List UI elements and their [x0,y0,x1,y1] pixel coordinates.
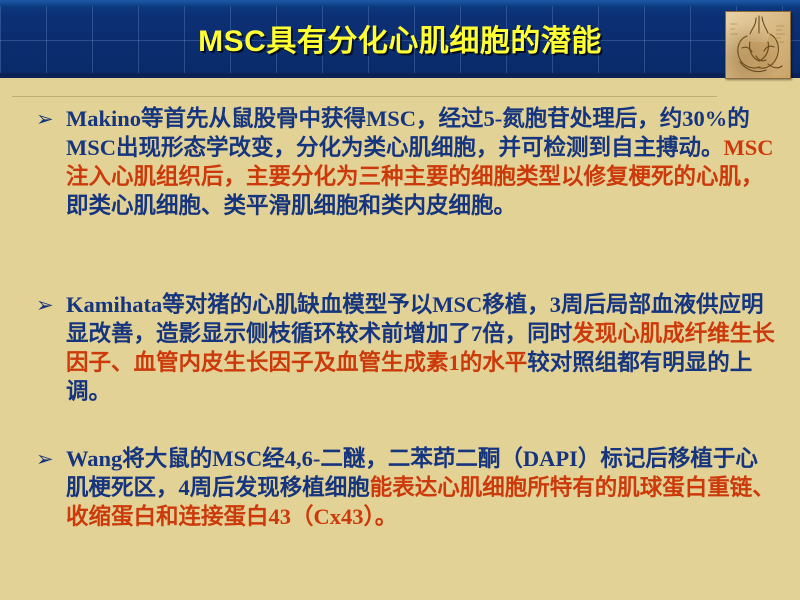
list-item: ➢ Wang将大鼠的MSC经4,6-二醚，二苯茚二酮（DAPI）标记后移植于心肌… [36,444,776,531]
text-segment: Makino等首先从鼠股骨中获得MSC，经过5-氮胞苷处理后，约30%的MSC出… [66,106,750,160]
bullet-text: Makino等首先从鼠股骨中获得MSC，经过5-氮胞苷处理后，约30%的MSC出… [66,104,776,220]
slide-canvas: MSC具有分化心肌细胞的潜能 [0,0,800,600]
list-item: ➢ Kamihata等对猪的心肌缺血模型予以MSC移植，3周后局部血液供应明显改… [36,290,776,406]
bullet-arrow-icon: ➢ [36,445,62,474]
page-title: MSC具有分化心肌细胞的潜能 [0,16,800,60]
text-segment: 即类心肌细胞、类平滑肌细胞和类内皮细胞。 [66,193,516,218]
header-divider-rule [12,96,717,97]
anatomical-heart-illustration [725,11,791,79]
bullet-arrow-icon: ➢ [36,291,62,320]
slide-body: ➢ Makino等首先从鼠股骨中获得MSC，经过5-氮胞苷处理后，约30%的MS… [0,98,800,600]
bullet-text: Wang将大鼠的MSC经4,6-二醚，二苯茚二酮（DAPI）标记后移植于心肌梗死… [66,444,776,531]
slide-header-banner: MSC具有分化心肌细胞的潜能 [0,0,800,78]
list-item: ➢ Makino等首先从鼠股骨中获得MSC，经过5-氮胞苷处理后，约30%的MS… [36,104,776,220]
bullet-arrow-icon: ➢ [36,105,62,134]
bullet-text: Kamihata等对猪的心肌缺血模型予以MSC移植，3周后局部血液供应明显改善，… [66,290,776,406]
